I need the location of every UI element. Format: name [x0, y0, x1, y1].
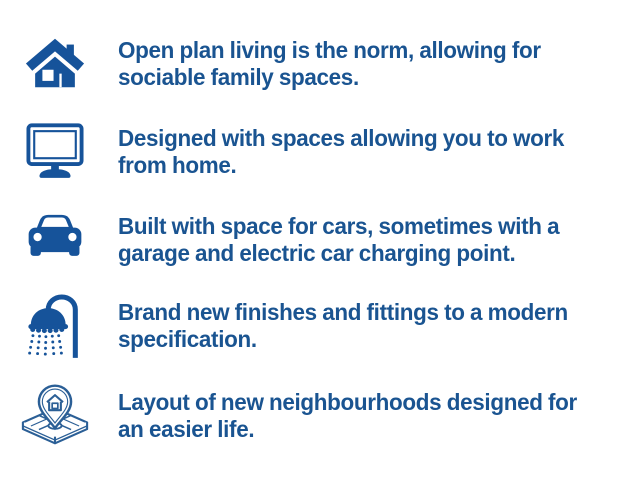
feature-label: Built with space for cars, sometimes wit… [118, 213, 602, 268]
car-icon [0, 194, 118, 282]
feature-label: Layout of new neighbourhoods designed fo… [118, 389, 602, 444]
house-icon [0, 18, 118, 106]
shower-icon [0, 282, 118, 370]
feature-item: Layout of new neighbourhoods designed fo… [0, 370, 635, 458]
feature-label: Open plan living is the norm, allowing f… [118, 37, 602, 92]
feature-label: Designed with spaces allowing you to wor… [118, 125, 602, 180]
feature-text-cell: Open plan living is the norm, allowing f… [118, 18, 635, 108]
feature-item: Brand new finishes and fittings to a mod… [0, 282, 635, 370]
feature-list: Open plan living is the norm, allowing f… [0, 0, 635, 493]
feature-item: Open plan living is the norm, allowing f… [0, 18, 635, 106]
feature-text-cell: Built with space for cars, sometimes wit… [118, 194, 635, 284]
feature-text-cell: Layout of new neighbourhoods designed fo… [118, 370, 635, 460]
feature-text-cell: Brand new finishes and fittings to a mod… [118, 282, 635, 370]
feature-item: Built with space for cars, sometimes wit… [0, 194, 635, 282]
feature-item: Designed with spaces allowing you to wor… [0, 106, 635, 194]
feature-label: Brand new finishes and fittings to a mod… [118, 299, 602, 354]
feature-text-cell: Designed with spaces allowing you to wor… [118, 106, 635, 196]
monitor-icon [0, 106, 118, 194]
map-location-pin-icon [0, 370, 118, 458]
